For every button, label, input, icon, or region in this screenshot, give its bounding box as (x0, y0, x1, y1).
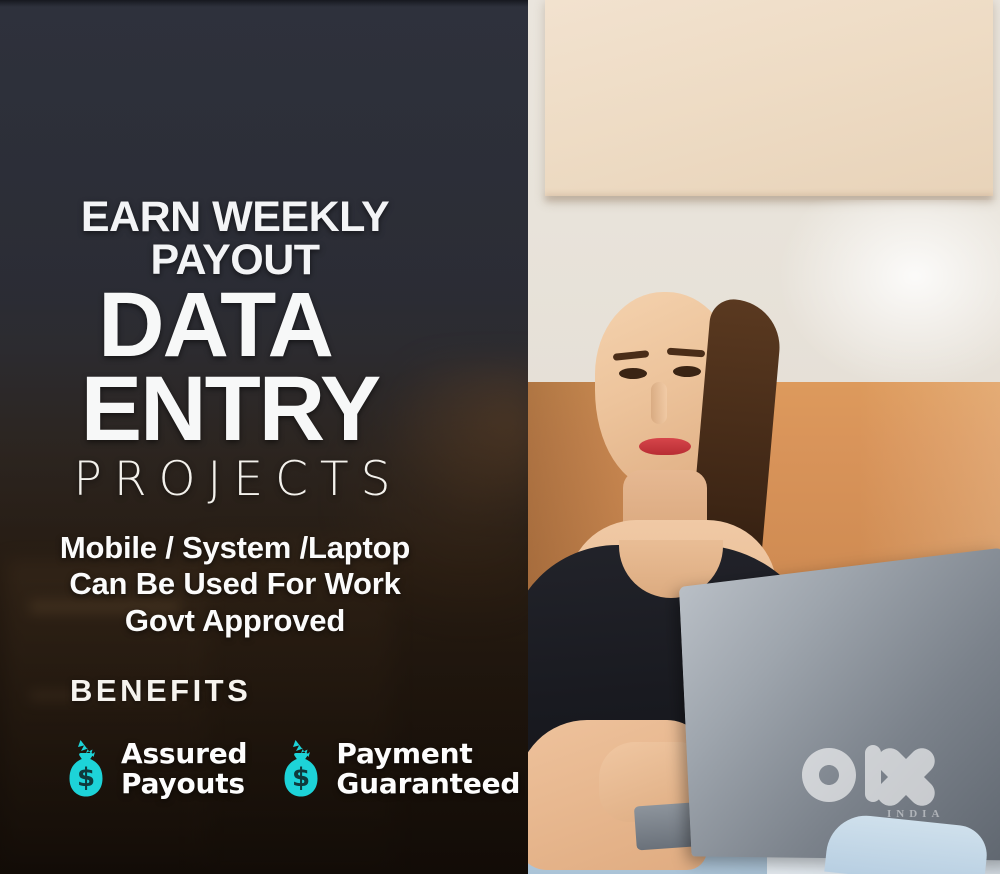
benefit-label-line-2: Payouts (121, 769, 247, 799)
eye-left (619, 368, 647, 379)
benefits-list: $ Assured Payouts $ Payment (62, 738, 532, 800)
headline-line-data: DATA (0, 283, 430, 369)
headline-line-projects: PROJECTS (0, 456, 476, 503)
nose (651, 382, 667, 424)
benefit-label-line-1: Assured (121, 739, 247, 769)
eye-right (673, 366, 701, 377)
money-bag-icon: $ (277, 738, 325, 800)
eyebrow-heading: EARN WEEKLY PAYOUT (0, 196, 470, 281)
svg-text:$: $ (292, 763, 310, 793)
eyebrow-line-1: EARN WEEKLY (81, 193, 389, 241)
benefit-item-assured-payouts: $ Assured Payouts (62, 738, 247, 800)
subcopy-line-3: Govt Approved (0, 603, 470, 639)
benefit-label: Assured Payouts (121, 739, 247, 799)
lips (639, 438, 691, 455)
svg-text:$: $ (77, 763, 95, 793)
benefits-heading: BENEFITS (70, 673, 251, 709)
subcopy-line-1: Mobile / System /Laptop (0, 530, 470, 566)
photo-panel: INDIA (527, 0, 1000, 874)
subcopy-block: Mobile / System /Laptop Can Be Used For … (0, 530, 470, 639)
benefit-label: Payment Guaranteed (336, 739, 520, 799)
benefit-label-line-2: Guaranteed (336, 769, 520, 799)
woman-figure (527, 0, 1000, 874)
subcopy-line-2: Can Be Used For Work (0, 566, 470, 602)
benefit-item-payment-guaranteed: $ Payment Guaranteed (277, 738, 520, 800)
laptop-lid (679, 547, 1000, 860)
ad-copy: EARN WEEKLY PAYOUT DATA ENTRY PROJECTS M… (0, 0, 528, 874)
advertisement-poster: INDIA EARN WEEKLY PAYOUT DATA ENTRY PROJ… (0, 0, 1000, 874)
money-bag-icon: $ (62, 738, 110, 800)
headline-line-entry: ENTRY (0, 367, 460, 453)
benefit-label-line-1: Payment (336, 739, 520, 769)
